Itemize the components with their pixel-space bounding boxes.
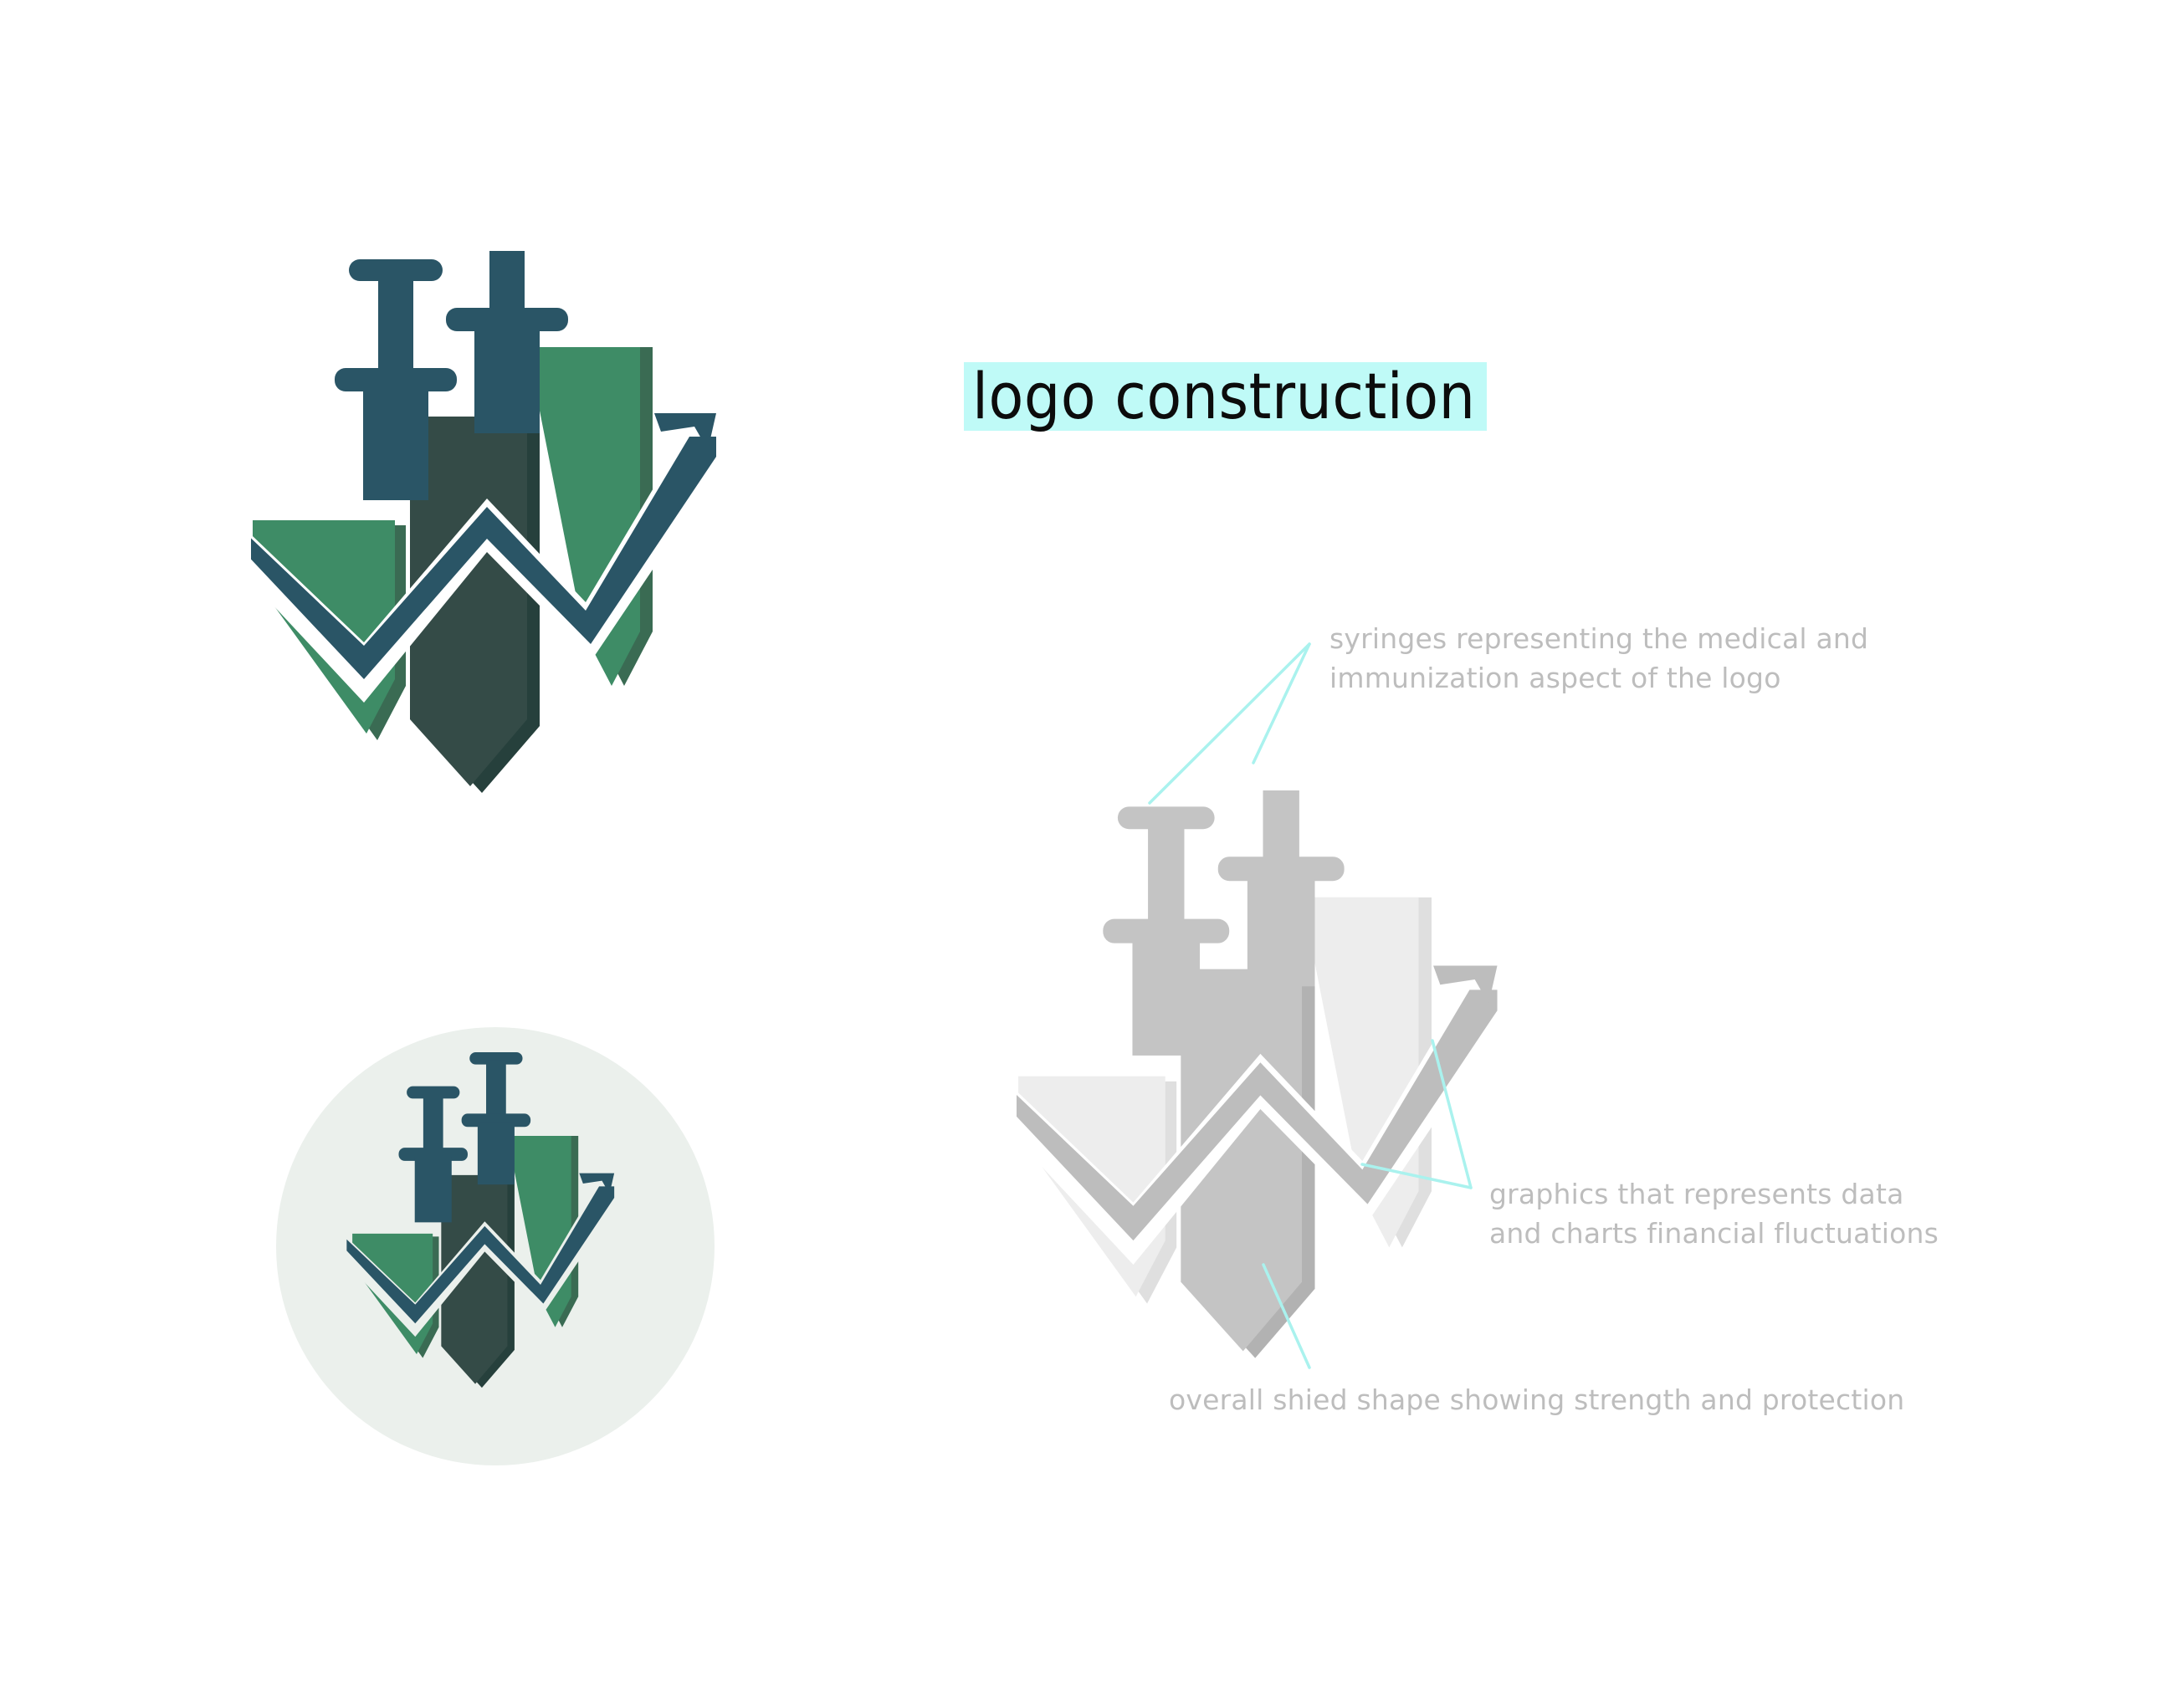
- annotation-graphics: graphics that represents data and charts…: [1489, 1174, 2033, 1253]
- page-title: logo construction: [964, 362, 1487, 431]
- logo-primary: [251, 251, 753, 803]
- page-title-block: logo construction: [964, 362, 1487, 431]
- annotation-shield: overall shied shape showing strength and…: [1169, 1380, 2006, 1419]
- leader-line-syringe-a: [1150, 644, 1309, 803]
- logo-badge: [276, 1027, 715, 1466]
- annotation-syringes: syringes representing the medical and im…: [1329, 619, 1965, 698]
- leader-line-syringe-b: [1253, 644, 1309, 763]
- logo-ghost-construction: [1017, 790, 1535, 1376]
- canvas: logo construction: [0, 0, 2167, 1708]
